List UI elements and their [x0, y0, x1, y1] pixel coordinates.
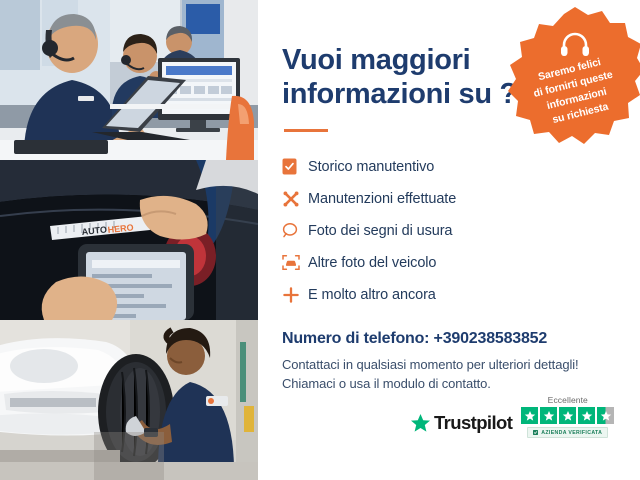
- list-item-label: Storico manutentivo: [308, 160, 434, 175]
- info-on-request-badge: Saremo felici di fornirti queste informa…: [506, 4, 640, 154]
- autohero-contact-banner: AUTO HERO: [0, 0, 640, 480]
- star-filled: [540, 407, 557, 424]
- contact-note-line-1: Contattaci in qualsiasi momento per ulte…: [282, 357, 579, 372]
- photo-column: AUTO HERO: [0, 0, 258, 480]
- verified-company-badge: AZIENDA VERIFICATA: [527, 427, 608, 438]
- list-item: Manutenzioni effettuate: [282, 184, 640, 214]
- contact-note-line-2: Chiamaci o usa il modulo di contatto.: [282, 376, 491, 391]
- contact-note: Contattaci in qualsiasi momento per ulte…: [282, 355, 640, 394]
- phone-number[interactable]: Numero di telefono: +390238583852: [282, 330, 640, 348]
- title-divider: [284, 129, 328, 132]
- list-item-label: Manutenzioni effettuate: [308, 192, 456, 207]
- vehicle-inspection-photo: AUTO HERO: [0, 160, 258, 320]
- feature-list: Storico manutentivo Manutenzi: [282, 152, 640, 310]
- call-center-agents-photo: [0, 0, 258, 160]
- headline-line-1: Vuoi maggiori: [282, 44, 470, 76]
- star-filled: [578, 407, 595, 424]
- star-filled: [559, 407, 576, 424]
- checklist-document-icon: [282, 158, 308, 175]
- star-half: [597, 407, 614, 424]
- magnifier-icon: [282, 222, 308, 239]
- trustpilot-widget[interactable]: Trustpilot Eccellente: [410, 395, 614, 438]
- star-filled: [521, 407, 538, 424]
- headline-line-2: informazioni su ?: [282, 78, 517, 110]
- list-item: E molto altro ancora: [282, 280, 640, 310]
- list-item-label: Foto dei segni di usura: [308, 224, 452, 239]
- list-item: Altre foto del veicolo: [282, 248, 640, 278]
- verified-label: AZIENDA VERIFICATA: [541, 430, 602, 436]
- rating-label: Eccellente: [548, 395, 588, 405]
- page-title: Vuoi maggiori informazioni su ?: [282, 44, 522, 112]
- star-rating: [521, 407, 614, 424]
- list-item: Storico manutentivo: [282, 152, 640, 182]
- tire-inspection-photo: [0, 320, 258, 480]
- car-scan-icon: [282, 254, 308, 271]
- plus-icon: [282, 286, 308, 304]
- verified-check-icon: [533, 430, 538, 435]
- list-item: Foto dei segni di usura: [282, 216, 640, 246]
- trustpilot-rating: Eccellente: [521, 395, 614, 438]
- trustpilot-logo: Trustpilot: [410, 412, 512, 438]
- trustpilot-wordmark: Trustpilot: [434, 412, 512, 434]
- list-item-label: E molto altro ancora: [308, 288, 436, 303]
- tools-cross-icon: [282, 190, 308, 208]
- list-item-label: Altre foto del veicolo: [308, 256, 436, 271]
- trustpilot-star-icon: [410, 413, 431, 433]
- content-panel: Vuoi maggiori informazioni su ? Storico …: [258, 0, 640, 480]
